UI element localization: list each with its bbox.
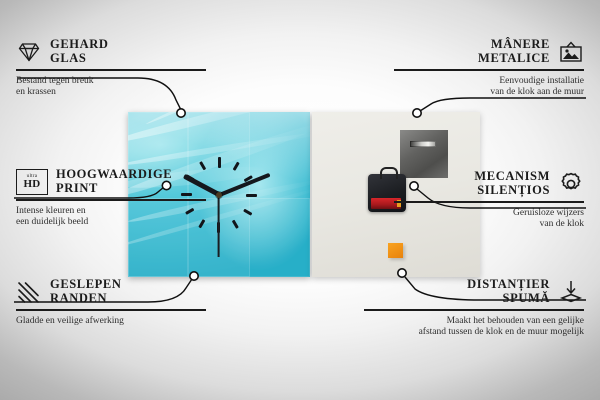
feature-title-line2: SILENȚIOS — [477, 183, 550, 197]
picture-frame-icon — [558, 39, 584, 65]
down-arrow-layers-icon — [558, 279, 584, 305]
feature-body-line2: een duidelijk beeld — [16, 217, 88, 227]
feature-manere-metalice[interactable]: MÂNERE METALICE Eenvoudige installatie v… — [394, 38, 584, 99]
feature-title-line2: METALICE — [478, 51, 550, 65]
feature-title-line1: GEHARD — [50, 37, 108, 51]
feature-heading: GEHARD GLAS — [16, 38, 206, 65]
divider — [16, 309, 206, 311]
feature-title-line2: PRINT — [56, 181, 98, 195]
feature-body-line1: Geruisloze wijzers — [513, 208, 584, 218]
divider — [364, 309, 584, 311]
feature-distantier-spuma[interactable]: DISTANȚIER SPUMĂ Maakt het behouden van … — [364, 278, 584, 339]
feature-heading: DISTANȚIER SPUMĂ — [364, 278, 584, 305]
feature-body-line1: Intense kleuren en — [16, 206, 86, 216]
diamond-icon — [16, 39, 42, 65]
feature-title-line2: GLAS — [50, 51, 86, 65]
feature-body-line1: Bestand tegen breuk — [16, 76, 94, 86]
feature-mecanism-silentios[interactable]: MECANISM SILENȚIOS Geruisloze wijzers va… — [394, 170, 584, 231]
feature-heading: MECANISM SILENȚIOS — [394, 170, 584, 197]
feature-description: Maakt het behouden van een gelijke afsta… — [364, 316, 584, 339]
feature-heading: GESLEPEN RANDEN — [16, 278, 206, 305]
feature-body-line2: en krassen — [16, 87, 56, 97]
feature-title-line1: HOOGWAARDIGE — [56, 167, 172, 181]
ultra-hd-icon: ultra HD — [16, 169, 48, 195]
divider — [394, 69, 584, 71]
feature-body-line2: van de klok — [540, 219, 584, 229]
divider — [16, 199, 206, 201]
feature-description: Gladde en veilige afwerking — [16, 316, 206, 328]
feature-hoogwaardige-print[interactable]: ultra HD HOOGWAARDIGE PRINT Intense kleu… — [16, 168, 206, 229]
feature-gehard-glas[interactable]: GEHARD GLAS Bestand tegen breuk en krass… — [16, 38, 206, 99]
feature-description: Intense kleuren en een duidelijk beeld — [16, 206, 206, 229]
feature-title-line1: DISTANȚIER — [467, 277, 550, 291]
feature-title-line1: MÂNERE — [491, 37, 550, 51]
feature-title-line2: RANDEN — [50, 291, 107, 305]
feature-description: Bestand tegen breuk en krassen — [16, 76, 206, 99]
ultra-hd-icon-main: HD — [23, 179, 40, 190]
feature-body-line1: Maakt het behouden van een gelijke — [447, 316, 584, 326]
feature-body-line2: afstand tussen de klok en de muur mogeli… — [419, 327, 584, 337]
gear-icon — [558, 171, 584, 197]
divider — [16, 69, 206, 71]
infographic-canvas: GEHARD GLAS Bestand tegen breuk en krass… — [0, 0, 600, 400]
feature-body-line1: Eenvoudige installatie — [499, 76, 584, 86]
feature-body-line2: van de klok aan de muur — [490, 87, 584, 97]
feature-body-line1: Gladde en veilige afwerking — [16, 316, 124, 326]
feature-description: Geruisloze wijzers van de klok — [394, 208, 584, 231]
feature-heading: MÂNERE METALICE — [394, 38, 584, 65]
feature-description: Eenvoudige installatie van de klok aan d… — [394, 76, 584, 99]
feature-title-line1: MECANISM — [474, 169, 550, 183]
feature-geslepen-randen[interactable]: GESLEPEN RANDEN Gladde en veilige afwerk… — [16, 278, 206, 327]
feature-heading: ultra HD HOOGWAARDIGE PRINT — [16, 168, 206, 195]
diagonal-lines-icon — [16, 279, 42, 305]
divider — [394, 201, 584, 203]
feature-title-line1: GESLEPEN — [50, 277, 122, 291]
feature-title-line2: SPUMĂ — [503, 291, 550, 305]
